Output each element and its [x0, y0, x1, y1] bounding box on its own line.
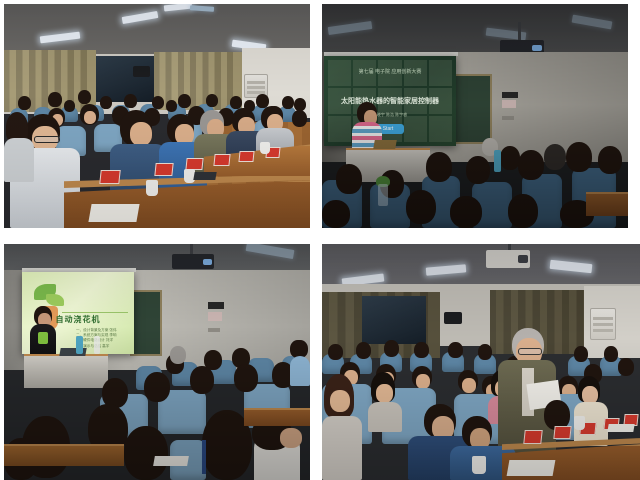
laptop	[373, 140, 397, 149]
document-sheet	[507, 460, 556, 476]
paper-cup	[146, 180, 158, 196]
plastic-bottle	[94, 336, 100, 354]
podium	[24, 354, 108, 388]
collage-photo-top-right[interactable]: 第七届 电子院 应用创新大赛 太阳能热水器的智能家居控制器 王晓宇 陈浩 陈宇睿…	[322, 4, 628, 228]
name-card	[553, 426, 571, 439]
paper-cup	[574, 416, 585, 430]
wall-speaker-icon	[133, 66, 150, 77]
wall-speaker-icon	[444, 312, 462, 324]
side-desk	[586, 192, 628, 216]
wall-notice	[208, 312, 222, 321]
lanyard	[202, 440, 206, 474]
name-card	[99, 170, 120, 184]
name-card	[154, 163, 173, 176]
collage-photo-bottom-right[interactable]	[322, 244, 640, 480]
air-conditioner	[590, 308, 616, 340]
ceiling-projector	[172, 254, 214, 269]
presentation-dark-scene: 第七届 电子院 应用创新大赛 太阳能热水器的智能家居控制器 王晓宇 陈浩 陈宇睿…	[322, 4, 628, 228]
presentation-green-scene: 自动浇花机 一、设计背景及方案 张伟 二、系统方案与实现 李响 三、硬件电路设计…	[4, 244, 310, 480]
wall-notice	[502, 100, 516, 108]
name-card	[523, 430, 542, 444]
paper-cup	[260, 142, 270, 154]
audience-desk-right	[244, 408, 310, 426]
presenter	[30, 306, 56, 358]
projector-lens-icon	[203, 259, 212, 265]
slide-divider	[62, 312, 128, 313]
glass-vase	[378, 184, 388, 206]
wall-sign-small	[502, 116, 514, 120]
name-card	[213, 154, 230, 166]
slide-title-text: 太阳能热水器的智能家居控制器	[324, 96, 456, 106]
wall-sign	[208, 302, 224, 309]
water-bottle	[494, 150, 501, 172]
chalkboard	[130, 290, 162, 356]
wall-sign-small	[208, 328, 220, 332]
audience-desk	[4, 444, 124, 466]
lecture-hall-audience-scene	[4, 4, 310, 228]
wall-sign	[502, 92, 518, 98]
slide-header-text: 第七届 电子院 应用创新大赛	[324, 68, 456, 75]
projector-lens-icon	[532, 45, 542, 51]
slide-authors-text: 王晓宇 陈浩 陈宇睿	[324, 112, 456, 118]
document-sheet	[193, 172, 216, 180]
judge-comments-scene	[322, 244, 640, 480]
document-sheet	[607, 424, 634, 432]
projector-lens-icon	[518, 255, 528, 262]
collage-photo-bottom-left[interactable]: 自动浇花机 一、设计背景及方案 张伟 二、系统方案与实现 李响 三、硬件电路设计…	[4, 244, 310, 480]
document-sheet	[88, 204, 139, 222]
projection-screen[interactable]: 第七届 电子院 应用创新大赛 太阳能热水器的智能家居控制器 王晓宇 陈浩 陈宇睿…	[324, 56, 456, 146]
ceiling	[322, 4, 628, 58]
window	[362, 296, 426, 344]
paper-cup	[472, 456, 486, 474]
document-sheet	[153, 456, 189, 466]
photo-collage: 第七届 电子院 应用创新大赛 太阳能热水器的智能家居控制器 王晓宇 陈浩 陈宇睿…	[0, 0, 640, 480]
name-card	[238, 151, 254, 162]
sprout-leaf-icon	[46, 294, 64, 306]
water-bottle	[76, 336, 83, 354]
collage-photo-top-left[interactable]	[4, 4, 310, 228]
ceiling-projector	[486, 250, 530, 268]
